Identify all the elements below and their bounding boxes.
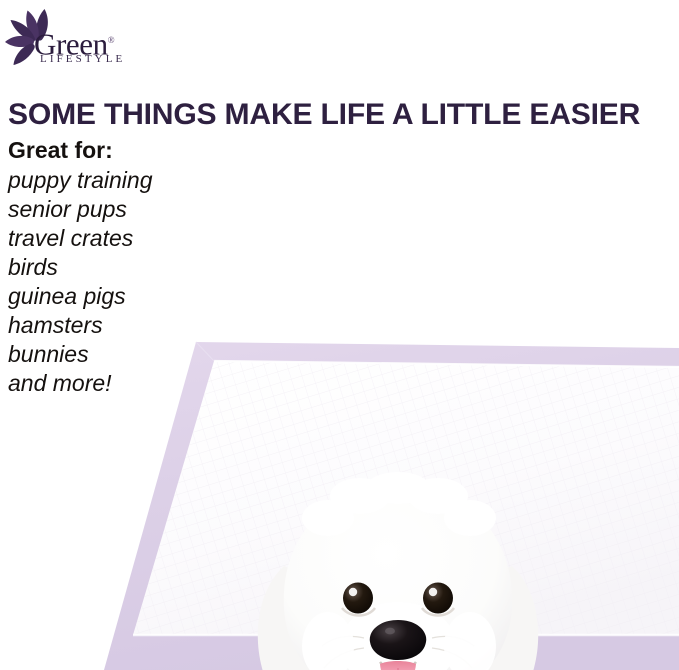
trademark-symbol: ® <box>108 35 114 45</box>
dog-eye-right <box>423 583 453 614</box>
benefit-item: travel crates <box>8 224 238 253</box>
dog-photo-subject <box>232 470 562 670</box>
benefit-item: guinea pigs <box>8 282 238 311</box>
dog-body-group <box>258 472 538 670</box>
product-marketing-image: Green® LIFESTYLE SOME THINGS MAKE LIFE A… <box>0 0 679 670</box>
dog-nose <box>370 620 427 660</box>
benefit-item: puppy training <box>8 166 238 195</box>
benefit-item: and more! <box>8 369 238 398</box>
benefit-item: birds <box>8 253 238 282</box>
dog-eye-left <box>343 583 373 614</box>
dog-nose-highlight <box>385 628 395 635</box>
brand-tagline: LIFESTYLE <box>40 54 125 65</box>
benefit-item: hamsters <box>8 311 238 340</box>
benefits-list: Great for: puppy training senior pups tr… <box>8 136 238 398</box>
benefits-title: Great for: <box>8 136 238 165</box>
dog-eye-highlight-right <box>429 588 437 596</box>
dog-eye-highlight-left <box>349 588 357 596</box>
brand-logo: Green® LIFESTYLE <box>4 6 144 72</box>
page-headline: SOME THINGS MAKE LIFE A LITTLE EASIER <box>8 99 679 131</box>
benefit-item: senior pups <box>8 195 238 224</box>
benefit-item: bunnies <box>8 340 238 369</box>
